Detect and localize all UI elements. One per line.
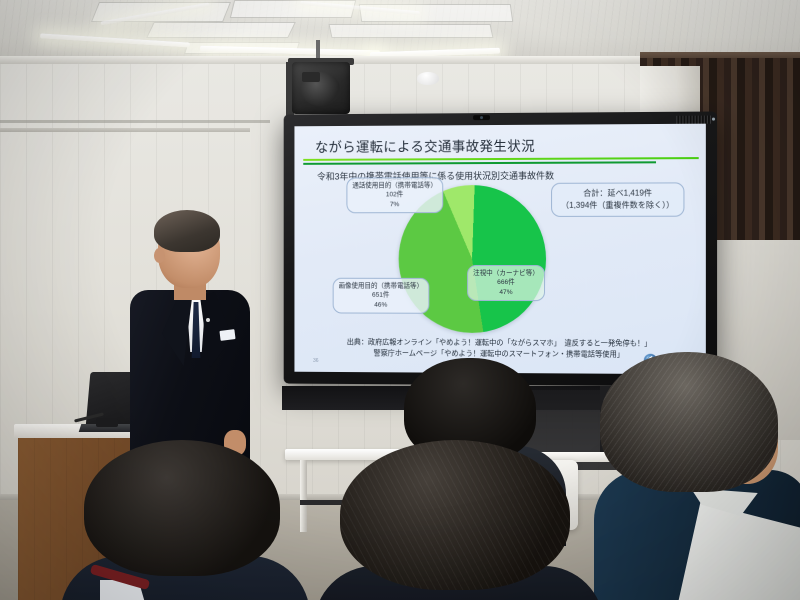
microphone-base [96, 418, 118, 427]
display-screen[interactable]: ながら運転による交通事故発生状況 令和3年中の携帯電話使用等に係る使用状況別交通… [294, 124, 705, 375]
wall-rail [0, 120, 270, 123]
webcam-icon [473, 115, 490, 120]
title-rule-green [303, 161, 656, 164]
callout-phone-call-percent: 7% [352, 200, 437, 210]
ceiling-panel [329, 24, 494, 38]
presentation-room-photo: ながら運転による交通事故発生状況 令和3年中の携帯電話使用等に係る使用状況別交通… [0, 0, 800, 600]
audience-head [84, 440, 280, 576]
source-line-1: 出典：政府広報オンライン「やめよう！運転中の「ながらスマホ」 違反すると一発免停… [303, 337, 696, 350]
callout-gazing-name: 注視中（カーナビ等） [473, 269, 539, 278]
power-led-icon [712, 118, 715, 121]
presenter-ear [154, 248, 165, 263]
ceiling-camera-icon [302, 72, 320, 82]
callout-image-use-percent: 46% [339, 300, 424, 310]
speaker-grille-icon [676, 116, 711, 124]
callout-image-use-name: 画像使用目的（携帯電話等） [339, 282, 424, 291]
total-line2: （1,394件（重複件数を除く）） [561, 200, 674, 212]
callout-gazing: 注視中（カーナビ等） 666件 47% [467, 265, 545, 301]
slide-page-number: 36 [313, 358, 318, 364]
callout-phone-call-name: 通話使用目的（携帯電話等） [352, 181, 437, 191]
audience-member [84, 440, 280, 600]
audience-hair-texture [600, 352, 778, 492]
total-line1: 合計：延べ1,419件 [561, 187, 674, 199]
presenter-hair [154, 210, 220, 252]
callout-gazing-percent: 47% [473, 288, 539, 298]
slide-title: ながら運転による交通事故発生状況 [315, 135, 535, 156]
wall-rail [0, 128, 250, 132]
dome-sensor-icon [417, 72, 439, 85]
table-leg [300, 460, 307, 532]
callout-image-use: 画像使用目的（携帯電話等） 651件 46% [333, 278, 429, 314]
title-rule-lime [303, 157, 698, 161]
callout-phone-call-count: 102件 [352, 191, 437, 201]
wall-display[interactable]: ながら運転による交通事故発生状況 令和3年中の携帯電話使用等に係る使用状況別交通… [284, 111, 717, 386]
audience-hair-texture [340, 440, 570, 590]
ceiling-speaker-icon [292, 62, 350, 114]
ceiling-panel [230, 0, 356, 18]
callout-image-use-count: 651件 [339, 291, 424, 301]
slide: ながら運転による交通事故発生状況 令和3年中の携帯電話使用等に係る使用状況別交通… [294, 124, 705, 375]
audience-member [340, 440, 570, 600]
callout-total: 合計：延べ1,419件 （1,394件（重複件数を除く）） [551, 182, 684, 217]
ceiling-panel [146, 22, 296, 38]
ceiling-panel [359, 4, 514, 22]
audience-member [600, 352, 800, 600]
presenter-lapel-pin [206, 318, 210, 322]
presenter-pocket-card [219, 329, 235, 341]
callout-phone-call: 通話使用目的（携帯電話等） 102件 7% [346, 177, 443, 213]
presenter [128, 214, 252, 464]
callout-gazing-count: 666件 [473, 278, 539, 287]
